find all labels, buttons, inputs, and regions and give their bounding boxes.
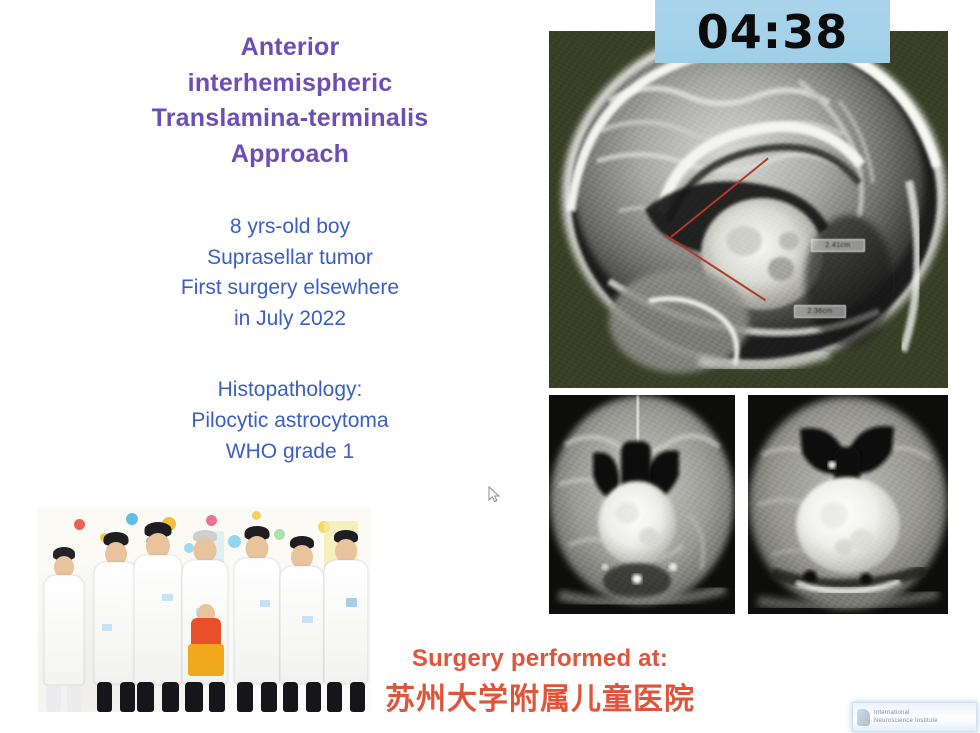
institute-watermark: International Neuroscience Institute xyxy=(852,702,977,732)
photo-person xyxy=(280,536,324,712)
boots xyxy=(234,682,280,712)
boot xyxy=(97,682,113,712)
axial-mri-left xyxy=(549,395,735,614)
confetti-dot xyxy=(206,515,217,526)
caption-chinese: 苏州大学附属儿童医院 xyxy=(330,674,750,718)
child-gift-box xyxy=(188,644,224,676)
case-info: 8 yrs-old boy Suprasellar tumor First su… xyxy=(120,212,460,335)
white-coat xyxy=(280,566,324,684)
presentation-slide: Anterior interhemispheric Translamina-te… xyxy=(0,0,980,733)
slide-title: Anterior interhemispheric Translamina-te… xyxy=(120,30,460,172)
name-badge xyxy=(346,598,357,607)
watermark-line-2: Neuroscience Institute xyxy=(874,717,938,725)
measurement-label-2: 2.36cm xyxy=(794,305,846,318)
measurement-label-1: 2.41cm xyxy=(811,239,865,252)
institute-logo-icon xyxy=(857,709,870,726)
boots xyxy=(188,682,224,712)
boot xyxy=(67,686,81,712)
histopathology-info: Histopathology: Pilocytic astrocytoma WH… xyxy=(120,375,460,468)
photo-person xyxy=(134,522,182,712)
confetti-dot xyxy=(252,511,261,520)
case-info-line-4: in July 2022 xyxy=(120,304,460,335)
name-badge xyxy=(102,624,112,631)
mouse-cursor-icon xyxy=(488,486,502,504)
photo-person xyxy=(234,526,280,712)
title-line-3: Translamina-terminalis xyxy=(120,101,460,137)
name-badge xyxy=(302,616,313,623)
axial-mri-right-image xyxy=(748,395,948,614)
white-coat xyxy=(94,562,138,684)
case-info-line-1: 8 yrs-old boy xyxy=(120,212,460,243)
boots xyxy=(280,682,324,712)
title-line-2: interhemispheric xyxy=(120,66,460,102)
boot xyxy=(306,682,322,712)
boots xyxy=(94,682,138,712)
case-info-line-3: First surgery elsewhere xyxy=(120,273,460,304)
boot xyxy=(46,686,60,712)
name-badge xyxy=(162,594,173,601)
axial-mri-left-image xyxy=(549,395,735,614)
group-photo xyxy=(38,507,371,712)
boot xyxy=(283,682,299,712)
boot xyxy=(237,682,254,712)
photo-child xyxy=(188,582,224,712)
boot xyxy=(190,682,203,712)
white-coat xyxy=(134,555,182,685)
boot xyxy=(137,682,154,712)
institute-name: International Neuroscience Institute xyxy=(874,709,938,725)
histopathology-line-1: Histopathology: xyxy=(120,375,460,406)
title-line-4: Approach xyxy=(120,137,460,173)
boots xyxy=(44,686,84,712)
confetti-dot xyxy=(74,519,85,530)
countdown-timer: 04:38 xyxy=(655,0,890,63)
sagittal-mri-image xyxy=(549,31,948,388)
sagittal-mri: 2.41cm 2.36cm xyxy=(549,31,948,388)
case-info-line-2: Suprasellar tumor xyxy=(120,243,460,274)
boot xyxy=(120,682,136,712)
boot xyxy=(261,682,278,712)
photo-person xyxy=(44,547,84,712)
watermark-line-1: International xyxy=(874,709,938,717)
name-badge xyxy=(260,600,270,607)
histopathology-line-2: Pilocytic astrocytoma xyxy=(120,406,460,437)
white-coat xyxy=(44,575,84,685)
axial-mri-right xyxy=(748,395,948,614)
boots xyxy=(134,682,182,712)
histopathology-line-3: WHO grade 1 xyxy=(120,437,460,468)
surgery-location-caption: Surgery performed at: 苏州大学附属儿童医院 xyxy=(330,645,750,718)
caption-english: Surgery performed at: xyxy=(330,645,750,673)
white-coat xyxy=(234,558,280,684)
title-line-1: Anterior xyxy=(120,30,460,66)
boot xyxy=(162,682,179,712)
boot xyxy=(209,682,222,712)
photo-person xyxy=(94,532,138,712)
timer-value: 04:38 xyxy=(697,9,848,55)
